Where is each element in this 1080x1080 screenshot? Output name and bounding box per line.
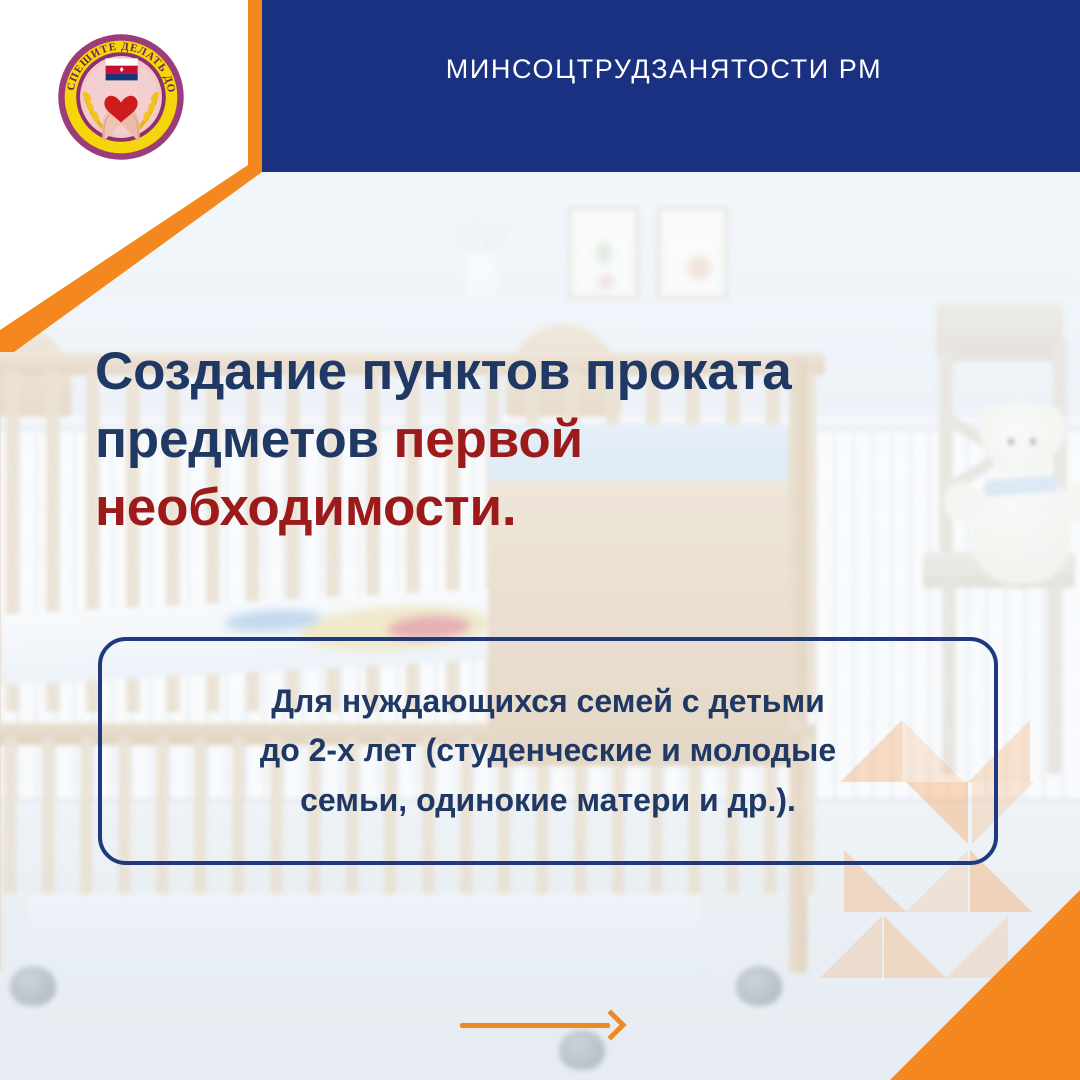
callout-line-3: семьи, одинокие матери и др.).: [260, 776, 836, 826]
arrow-head: [595, 1009, 626, 1040]
arrow-shaft: [460, 1023, 610, 1028]
poster: МИНСОЦТРУДЗАНЯТОСТИ РМ: [0, 0, 1080, 1080]
eligibility-callout-box: Для нуждающихся семей с детьми до 2-х ле…: [98, 637, 998, 865]
callout-text: Для нуждающихся семей с детьми до 2-х ле…: [234, 677, 862, 826]
corner-orange-triangle: [890, 890, 1080, 1080]
arrow-right-icon[interactable]: [460, 1012, 630, 1038]
page-title: Создание пунктов проката предметов перво…: [95, 338, 985, 541]
callout-line-2: до 2-х лет (студенческие и молодые: [260, 726, 836, 776]
triangle-9: [820, 916, 882, 978]
organization-logo[interactable]: СПЕШИТЕ ДЕЛАТЬ ДОБРО: [57, 33, 185, 161]
header-title: МИНСОЦТРУДЗАНЯТОСТИ РМ: [248, 0, 1080, 172]
callout-line-1: Для нуждающихся семей с детьми: [260, 677, 836, 727]
